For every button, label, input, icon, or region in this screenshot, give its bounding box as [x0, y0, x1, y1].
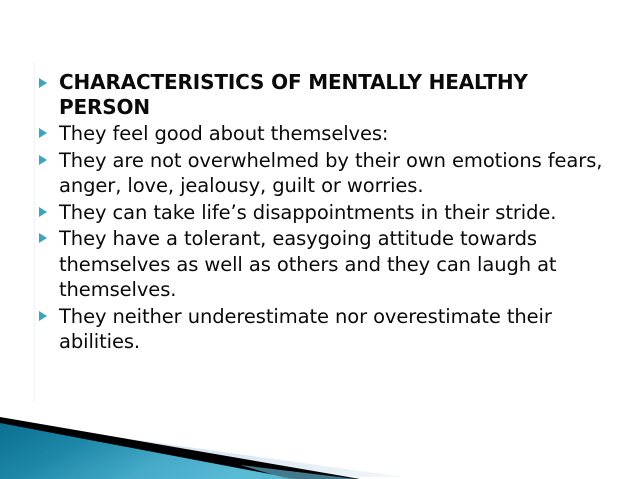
list-item: They are not overwhelmed by their own em…: [36, 148, 614, 199]
teal-gradient-wedge: [0, 423, 296, 479]
list-item-text: CHARACTERISTICS OF MENTALLY HEALTHY PERS…: [59, 70, 614, 120]
list-item: CHARACTERISTICS OF MENTALLY HEALTHY PERS…: [36, 70, 614, 120]
teal-tail-wedge: [240, 465, 356, 479]
list-item-text: They feel good about themselves:: [59, 121, 614, 147]
list-item: They have a tolerant, easygoing attitude…: [36, 226, 614, 303]
black-diagonal-stripe: [0, 417, 360, 479]
slide-canvas: CHARACTERISTICS OF MENTALLY HEALTHY PERS…: [0, 0, 638, 479]
triangle-bullet-icon: [39, 78, 47, 88]
triangle-bullet-icon: [39, 207, 47, 217]
triangle-bullet-icon: [39, 128, 47, 138]
list-item-text: They neither underestimate nor overestim…: [59, 304, 614, 355]
list-item-text: They are not overwhelmed by their own em…: [59, 148, 614, 199]
list-item: They neither underestimate nor overestim…: [36, 304, 614, 355]
bottom-left-corner-graphic: [0, 399, 638, 479]
pale-blue-wedge: [0, 421, 404, 477]
list-item-text: They have a tolerant, easygoing attitude…: [59, 226, 614, 303]
list-item: They feel good about themselves:: [36, 121, 614, 147]
list-item-text: They can take life’s disappointments in …: [59, 200, 614, 226]
slide-content: CHARACTERISTICS OF MENTALLY HEALTHY PERS…: [0, 70, 638, 356]
triangle-bullet-icon: [39, 311, 47, 321]
triangle-bullet-icon: [39, 233, 47, 243]
bullet-list: CHARACTERISTICS OF MENTALLY HEALTHY PERS…: [36, 70, 614, 355]
triangle-bullet-icon: [39, 155, 47, 165]
list-item: They can take life’s disappointments in …: [36, 200, 614, 226]
